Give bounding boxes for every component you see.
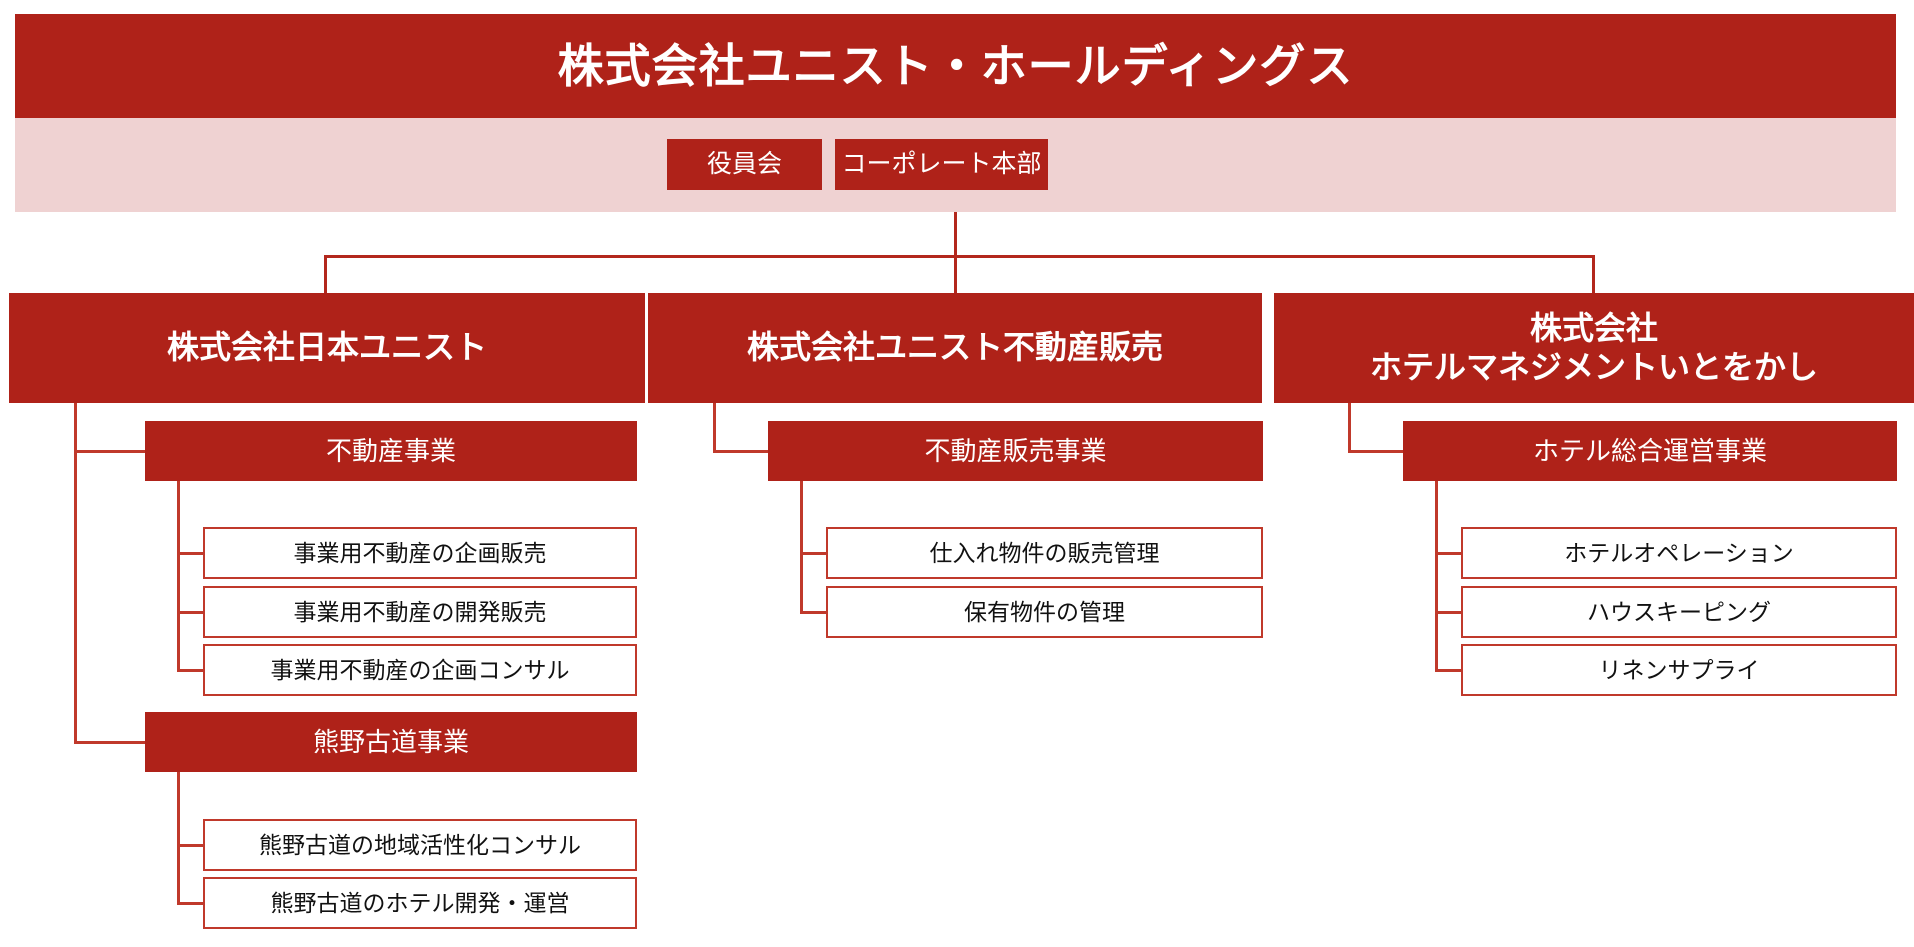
division-box-3-1[interactable]: ホテル総合運営事業 <box>1403 421 1897 481</box>
connector-division-1-1 <box>74 450 146 453</box>
hq-unit-board[interactable]: 役員会 <box>667 139 822 190</box>
connector-division-3-1 <box>1348 450 1410 453</box>
leaf-box-1-1-3[interactable]: 事業用不動産の企画コンサル <box>203 644 637 696</box>
division-box-1-1[interactable]: 不動産事業 <box>145 421 637 481</box>
org-chart-canvas: 株式会社ユニスト・ホールディングス 役員会 コーポレート本部 株式会社日本ユニス… <box>0 0 1914 947</box>
spine-company-3 <box>1348 403 1351 451</box>
leaf-box-3-1-3[interactable]: リネンサプライ <box>1461 644 1897 696</box>
leaf-box-1-2-2[interactable]: 熊野古道のホテル開発・運営 <box>203 877 637 929</box>
connector-division-2-1 <box>713 450 773 453</box>
spine-division-2-1 <box>800 481 803 612</box>
division-box-2-1[interactable]: 不動産販売事業 <box>768 421 1263 481</box>
connector-drop-company-3 <box>1592 255 1595 295</box>
leaf-label-1-1-1: 事業用不動産の企画販売 <box>294 542 547 565</box>
connector-leaf-3-1-3 <box>1435 669 1464 672</box>
connector-drop-company-1 <box>324 255 327 295</box>
connector-leaf-3-1-1 <box>1435 552 1464 555</box>
connector-leaf-1-2-1 <box>177 844 206 847</box>
connector-leaf-1-1-3 <box>177 669 206 672</box>
division-label-2-1: 不動産販売事業 <box>924 438 1106 464</box>
company-box-1[interactable]: 株式会社日本ユニスト <box>9 293 645 403</box>
leaf-label-3-1-1: ホテルオペレーション <box>1564 542 1794 565</box>
company-box-2[interactable]: 株式会社ユニスト不動産販売 <box>648 293 1262 403</box>
leaf-box-1-1-1[interactable]: 事業用不動産の企画販売 <box>203 527 637 579</box>
leaf-box-1-2-1[interactable]: 熊野古道の地域活性化コンサル <box>203 819 637 871</box>
division-label-1-2: 熊野古道事業 <box>313 729 469 755</box>
hq-unit-corporate-label: コーポレート本部 <box>841 152 1041 177</box>
company-name-3-line2: ホテルマネジメントいとをかし <box>1370 349 1818 385</box>
spine-division-3-1 <box>1435 481 1438 670</box>
leaf-box-2-1-2[interactable]: 保有物件の管理 <box>826 586 1263 638</box>
connector-division-1-2 <box>74 741 146 744</box>
company-box-3[interactable]: 株式会社 ホテルマネジメントいとをかし <box>1274 293 1914 403</box>
leaf-box-2-1-1[interactable]: 仕入れ物件の販売管理 <box>826 527 1263 579</box>
leaf-box-3-1-2[interactable]: ハウスキーピング <box>1461 586 1897 638</box>
holding-company-header: 株式会社ユニスト・ホールディングス <box>15 14 1896 118</box>
hq-unit-corporate[interactable]: コーポレート本部 <box>835 139 1048 190</box>
leaf-label-3-1-2: ハウスキーピング <box>1587 601 1771 624</box>
holding-company-title: 株式会社ユニスト・ホールディングス <box>558 43 1354 89</box>
spine-division-1-2 <box>177 772 180 903</box>
leaf-label-1-2-2: 熊野古道のホテル開発・運営 <box>271 892 570 915</box>
connector-leaf-1-1-2 <box>177 611 206 614</box>
leaf-label-2-1-2: 保有物件の管理 <box>964 601 1125 624</box>
connector-leaf-2-1-1 <box>800 552 829 555</box>
division-label-1-1: 不動産事業 <box>326 438 456 464</box>
leaf-label-1-1-3: 事業用不動産の企画コンサル <box>271 659 570 682</box>
connector-drop-company-2 <box>954 255 957 295</box>
company-name-3: 株式会社 ホテルマネジメントいとをかし <box>1370 309 1818 387</box>
connector-leaf-1-2-2 <box>177 902 206 905</box>
leaf-label-1-2-1: 熊野古道の地域活性化コンサル <box>259 834 581 857</box>
leaf-label-1-1-2: 事業用不動産の開発販売 <box>294 601 547 624</box>
division-box-1-2[interactable]: 熊野古道事業 <box>145 712 637 772</box>
division-label-3-1: ホテル総合運営事業 <box>1533 438 1767 464</box>
company-name-3-line1: 株式会社 <box>1530 310 1658 346</box>
spine-division-1-1 <box>177 481 180 670</box>
spine-company-2 <box>713 403 716 451</box>
connector-leaf-2-1-2 <box>800 611 829 614</box>
hq-unit-board-label: 役員会 <box>707 152 782 177</box>
leaf-label-3-1-3: リネンサプライ <box>1599 659 1760 682</box>
connector-leaf-1-1-1 <box>177 552 206 555</box>
leaf-label-2-1-1: 仕入れ物件の販売管理 <box>930 542 1160 565</box>
connector-company-bus <box>324 255 1595 258</box>
spine-company-1 <box>74 403 77 742</box>
company-name-2: 株式会社ユニスト不動産販売 <box>747 328 1163 367</box>
leaf-box-1-1-2[interactable]: 事業用不動産の開発販売 <box>203 586 637 638</box>
connector-hq-drop <box>954 212 957 258</box>
company-name-1: 株式会社日本ユニスト <box>167 328 487 367</box>
connector-leaf-3-1-2 <box>1435 611 1464 614</box>
leaf-box-3-1-1[interactable]: ホテルオペレーション <box>1461 527 1897 579</box>
